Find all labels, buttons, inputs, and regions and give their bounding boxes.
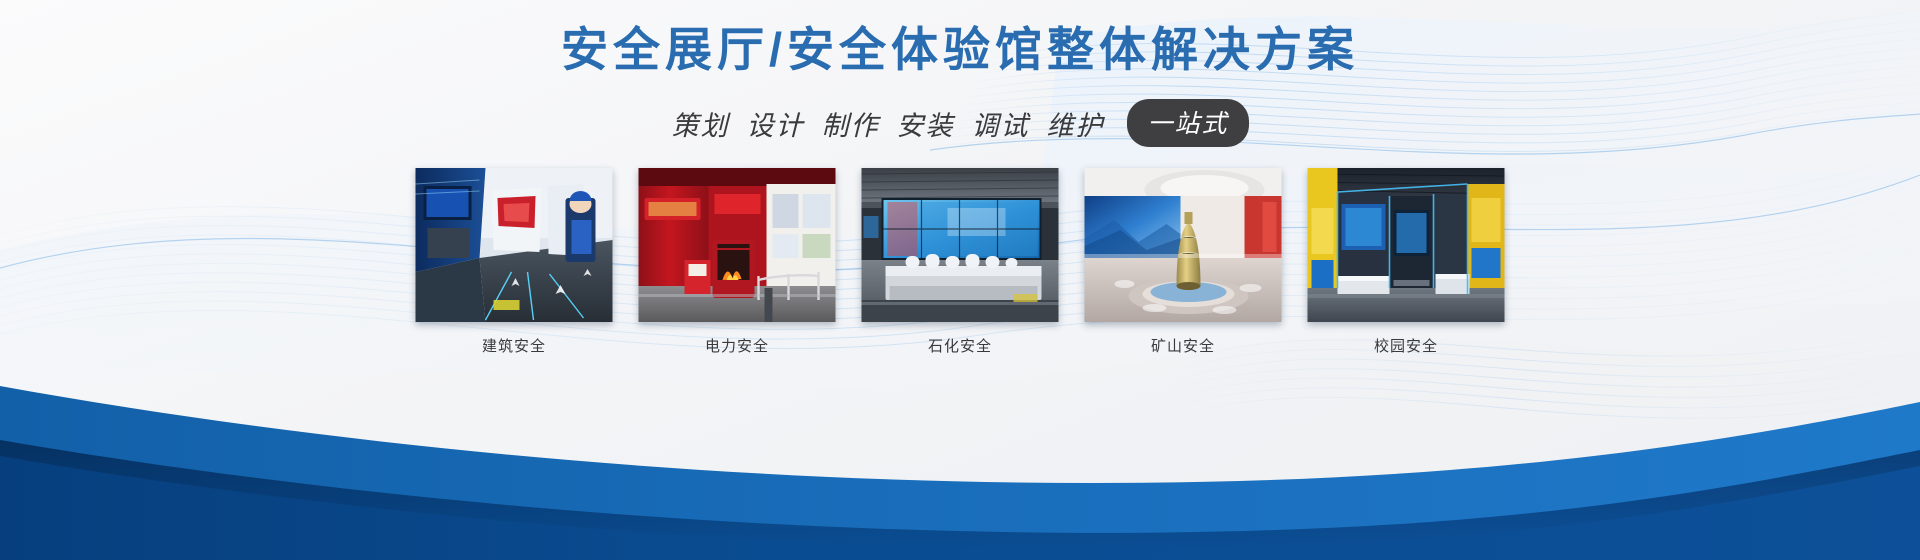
campus-safety-photo (1308, 168, 1505, 322)
service-step-maintenance: 维护 (1046, 104, 1104, 143)
thumbnail-petrochemical-safety[interactable] (862, 168, 1059, 322)
electric-power-safety-photo (639, 168, 836, 322)
service-step-debugging: 调试 (971, 104, 1029, 143)
service-steps-row: 策划 设计 制作 安装 调试 维护 一站式 (671, 99, 1248, 147)
gallery-caption: 电力安全 (705, 335, 769, 356)
gallery-caption: 矿山安全 (1151, 335, 1215, 356)
thumbnail-campus-safety[interactable] (1308, 168, 1505, 322)
page-title: 安全展厅/安全体验馆整体解决方案 (561, 22, 1359, 77)
thumbnail-construction-safety[interactable] (416, 168, 613, 322)
mining-safety-photo (1085, 168, 1282, 322)
thumbnail-electric-power-safety[interactable] (639, 168, 836, 322)
gallery-item[interactable]: 石化安全 (862, 168, 1059, 356)
petrochemical-safety-photo (862, 168, 1059, 322)
one-stop-badge: 一站式 (1127, 99, 1248, 147)
gallery-caption: 建筑安全 (482, 335, 546, 356)
gallery-caption: 石化安全 (928, 335, 992, 356)
gallery-item[interactable]: 电力安全 (639, 168, 836, 356)
gallery-item[interactable]: 校园安全 (1308, 168, 1505, 356)
service-step-planning: 策划 (671, 104, 729, 143)
thumbnail-mining-safety[interactable] (1085, 168, 1282, 322)
gallery-item[interactable]: 建筑安全 (416, 168, 613, 356)
headline-block: 安全展厅/安全体验馆整体解决方案 策划 设计 制作 安装 调试 维护 一站式 (0, 22, 1920, 147)
service-step-design: 设计 (746, 104, 804, 143)
gallery-caption: 校园安全 (1374, 335, 1438, 356)
service-step-production: 制作 (821, 104, 879, 143)
construction-safety-photo (416, 168, 613, 322)
gallery-item[interactable]: 矿山安全 (1085, 168, 1282, 356)
promo-banner: 安全展厅/安全体验馆整体解决方案 策划 设计 制作 安装 调试 维护 一站式 (0, 0, 1920, 560)
service-step-installation: 安装 (896, 104, 954, 143)
solution-gallery: 建筑安全 (416, 168, 1505, 356)
